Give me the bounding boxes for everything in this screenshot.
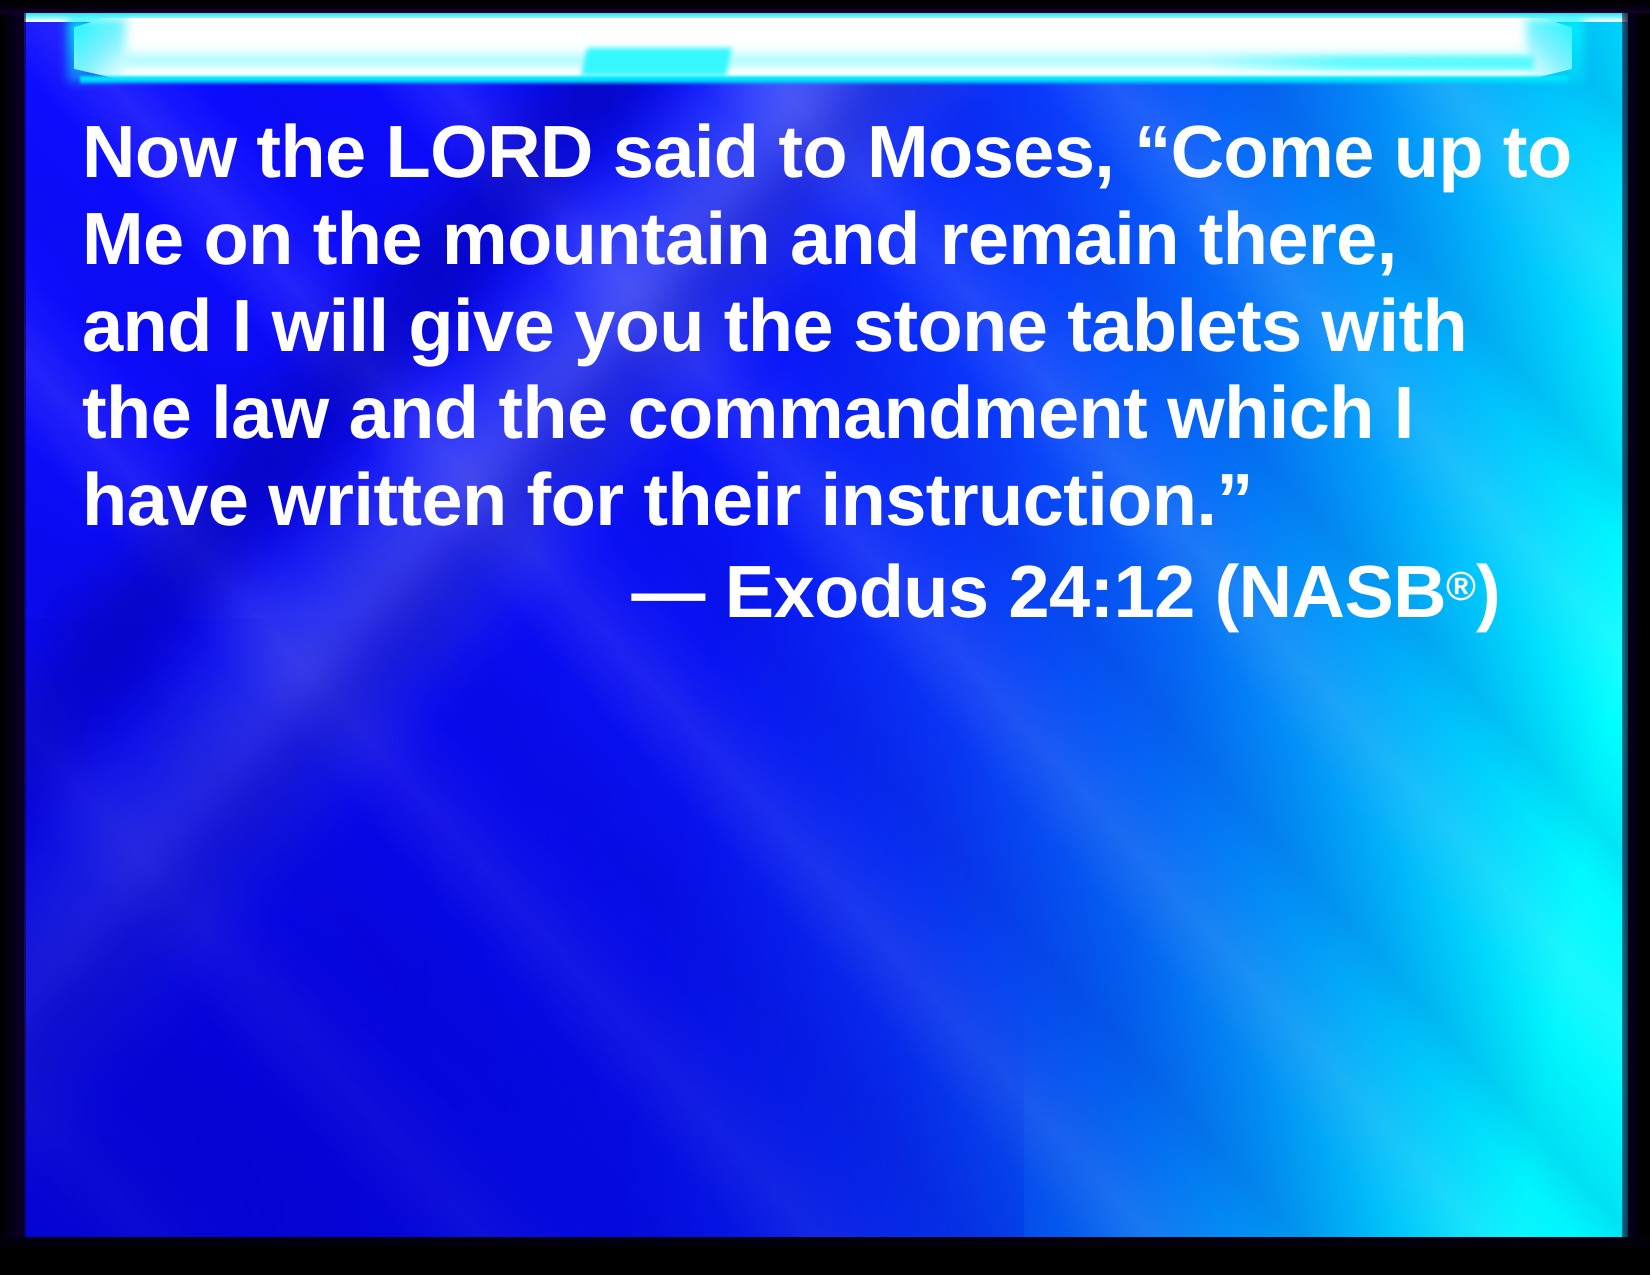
verse-text-block: Now the LORD said to Moses, “Come up to … — [82, 108, 1502, 635]
verse-line-3: and I will give you the stone tablets wi… — [82, 282, 1502, 369]
frame-border-top — [0, 0, 1650, 13]
frame-border-right — [1622, 0, 1650, 1275]
banner-cyan-highlight-blob — [581, 48, 732, 76]
verse-line-4: the law and the commandment which I — [82, 369, 1502, 456]
registered-trademark-icon: ® — [1446, 563, 1476, 609]
frame-border-left — [0, 0, 26, 1275]
banner-right-cyan-bevel — [1526, 18, 1584, 82]
verse-slide: Now the LORD said to Moses, “Come up to … — [0, 0, 1650, 1275]
attribution-reference: — Exodus 24:12 (NASB — [631, 550, 1446, 633]
verse-line-2: Me on the mountain and remain there, — [82, 195, 1502, 282]
verse-line-1: Now the LORD said to Moses, “Come up to — [82, 108, 1502, 195]
attribution-closing-paren: ) — [1476, 550, 1500, 633]
banner-cyan-highlight-wisp — [1204, 56, 1534, 70]
banner-bottom-cyan-edge — [80, 76, 1568, 85]
frame-border-bottom — [0, 1237, 1650, 1275]
top-banner — [24, 12, 1628, 86]
verse-attribution: — Exodus 24:12 (NASB®) — [82, 543, 1502, 635]
verse-line-5: have written for their instruction.” — [82, 456, 1502, 543]
banner-left-cyan-bevel — [68, 18, 126, 82]
